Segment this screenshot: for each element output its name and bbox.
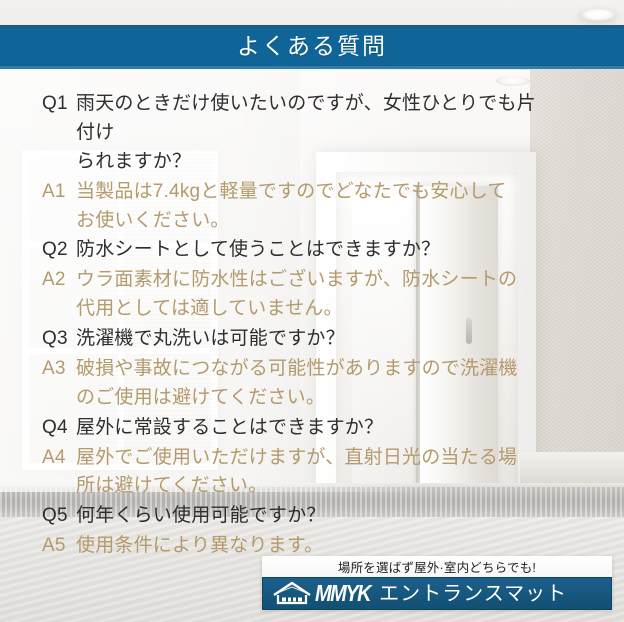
answer-tag: A1 [42, 178, 76, 207]
question-tag: Q1 [42, 90, 76, 119]
brand-banner: 場所を選ばず屋外·室内どちらでも! MMYK エントランスマット [262, 556, 612, 610]
faq-question: Q1 雨天のときだけ使いたいのですが、女性ひとりでも片付け られますか？ [42, 90, 542, 177]
answer-line-1: 屋外でご使用いただけますが、直射日光の当たる場 [76, 447, 517, 468]
answer-line-2: 所は避けてください。 [76, 472, 542, 501]
question-line-1: 雨天のときだけ使いたいのですが、女性ひとりでも片付け [76, 93, 536, 143]
house-icon [271, 581, 313, 606]
answer-tag: A5 [42, 532, 76, 561]
question-tag: Q2 [42, 236, 76, 265]
answer-line-2: お使いください。 [76, 207, 542, 236]
answer-line-2: のご使用は避けてください。 [76, 384, 542, 413]
faq-answer: A4 屋外でご使用いただけますが、直射日光の当たる場 所は避けてください。 [42, 444, 542, 502]
question-line-1: 洗濯機で丸洗いは可能ですか？ [76, 328, 345, 349]
question-tag: Q4 [42, 414, 76, 443]
header-underline [0, 66, 624, 69]
brand-wordmark: MMYK [315, 582, 370, 605]
brand-logo: MMYK [271, 581, 370, 606]
answer-tag: A3 [42, 355, 76, 384]
question-text: 防水シートとして使うことはできますか？ [76, 236, 542, 265]
ceiling-downlight-secondary-icon [496, 76, 530, 86]
header-banner: よくある質問 [0, 25, 624, 67]
question-tag: Q5 [42, 502, 76, 531]
answer-line-1: 破損や事故につながる可能性がありますので洗濯機 [76, 358, 518, 379]
answer-text: 当製品は7.4kgと軽量ですのでどなたでも安心して お使いください。 [76, 178, 542, 236]
question-line-1: 屋外に常設することはできますか？ [76, 417, 383, 438]
question-text: 何年くらい使用可能ですか？ [76, 502, 542, 531]
ceiling-downlight-icon [579, 9, 617, 21]
answer-line-1: ウラ面素材に防水性はございますが、防水シートの [76, 269, 517, 290]
answer-tag: A4 [42, 444, 76, 473]
faq-question: Q5 何年くらい使用可能ですか？ [42, 502, 542, 531]
question-text: 雨天のときだけ使いたいのですが、女性ひとりでも片付け られますか？ [76, 90, 542, 177]
faq-answer: A2 ウラ面素材に防水性はございますが、防水シートの 代用としては適していません… [42, 266, 542, 324]
question-tag: Q3 [42, 325, 76, 354]
question-line-1: 防水シートとして使うことはできますか？ [76, 239, 440, 260]
page-title: よくある質問 [237, 35, 387, 58]
answer-line-2: 代用としては適していません。 [76, 295, 542, 324]
answer-text: 破損や事故につながる可能性がありますので洗濯機 のご使用は避けてください。 [76, 355, 542, 413]
answer-text: 屋外でご使用いただけますが、直射日光の当たる場 所は避けてください。 [76, 444, 542, 502]
faq-question: Q2 防水シートとして使うことはできますか？ [42, 236, 542, 265]
brand-bar: MMYK エントランスマット [262, 577, 612, 610]
brand-tagline: 場所を選ばず屋外·室内どちらでも! [262, 556, 612, 577]
faq-question: Q3 洗濯機で丸洗いは可能ですか？ [42, 325, 542, 354]
product-name: エントランスマット [379, 584, 567, 604]
question-text: 洗濯機で丸洗いは可能ですか？ [76, 325, 542, 354]
answer-text: ウラ面素材に防水性はございますが、防水シートの 代用としては適していません。 [76, 266, 542, 324]
faq-answer: A1 当製品は7.4kgと軽量ですのでどなたでも安心して お使いください。 [42, 178, 542, 236]
question-text: 屋外に常設することはできますか？ [76, 414, 542, 443]
question-line-2: られますか？ [76, 148, 542, 177]
question-line-1: 何年くらい使用可能ですか？ [76, 505, 326, 526]
faq-answer: A3 破損や事故につながる可能性がありますので洗濯機 のご使用は避けてください。 [42, 355, 542, 413]
answer-line-1: 使用条件により異なります。 [76, 535, 323, 556]
answer-tag: A2 [42, 266, 76, 295]
faq-list: Q1 雨天のときだけ使いたいのですが、女性ひとりでも片付け られますか？ A1 … [42, 90, 542, 562]
faq-page: よくある質問 Q1 雨天のときだけ使いたいのですが、女性ひとりでも片付け られま… [0, 0, 624, 622]
answer-line-1: 当製品は7.4kgと軽量ですのでどなたでも安心して [76, 181, 507, 202]
faq-question: Q4 屋外に常設することはできますか？ [42, 414, 542, 443]
